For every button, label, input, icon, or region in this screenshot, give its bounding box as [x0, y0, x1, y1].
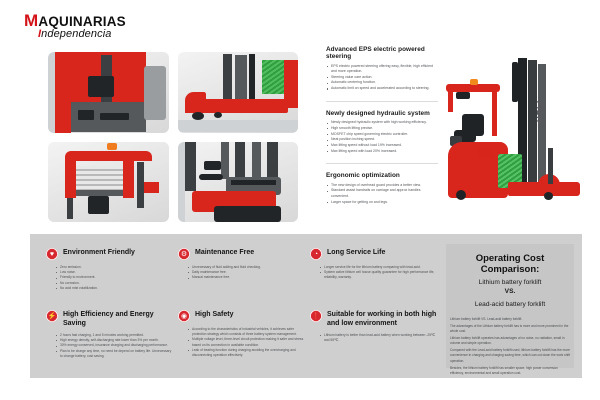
card-bullets: 2 hours fast charging, 1 and 5 minutes w…: [46, 333, 174, 359]
card-bullet: No acid mist volatilization.: [56, 286, 174, 291]
feature-bullets: The new design of overhead guard provide…: [326, 183, 438, 206]
benefit-card-high-low-environment: ❗ Suitable for working in both high and …: [310, 310, 438, 343]
card-title: High Efficiency and Energy Saving: [63, 310, 174, 328]
cost-paragraph: Lithium battery forklift operates has ad…: [450, 336, 570, 347]
cost-paragraph: The advantages of the Lithium battery fo…: [450, 324, 570, 335]
operating-cost-comparison-box: Operating Cost Comparison: Lithium batte…: [446, 244, 574, 368]
leaf-icon: ♥: [46, 248, 58, 260]
card-bullet: Lithium battery is better than lead-acid…: [320, 333, 438, 343]
card-bullet: Plan to be charge any time, no need be d…: [56, 349, 174, 359]
poster-page: MAQUINARIAS Independencia: [0, 0, 600, 400]
product-photo-grid: [48, 52, 298, 222]
card-bullets: Unnecessary of fluid adding and fluid ch…: [178, 265, 306, 281]
card-title: High Safety: [195, 310, 234, 320]
clock-icon: ◔: [310, 248, 322, 260]
card-title: Long Service Life: [327, 248, 385, 258]
benefit-card-long-service-life: ◔ Long Service Life Longer service life …: [310, 248, 438, 281]
feature-block-eps-steering: Advanced EPS electric powered steering E…: [326, 46, 438, 92]
feature-bullet: Max lifting speed with load 20% increase…: [326, 149, 438, 155]
card-bullet: System active lithium cell house quality…: [320, 270, 438, 280]
card-title: Suitable for working in both high and lo…: [327, 310, 438, 328]
card-bullet: According to the characteristics of indu…: [188, 327, 306, 337]
feature-block-ergonomic-optimization: Ergonomic optimization The new design of…: [326, 172, 438, 205]
card-bullets: Lithium battery is better than lead-acid…: [310, 333, 438, 343]
cost-paragraph: Lithium battery forklift VS. Lead-acid b…: [450, 317, 570, 322]
feature-heading: Advanced EPS electric powered steering: [326, 46, 438, 60]
brand-logo: MAQUINARIAS Independencia: [24, 12, 144, 44]
card-bullets: Zero emission. Low noise. Friendly to en…: [46, 265, 174, 291]
feature-bullets: Newly designed hydraulic system with hig…: [326, 120, 438, 154]
cost-title-line2: Comparison:: [454, 264, 566, 275]
feature-heading: Ergonomic optimization: [326, 172, 438, 179]
photo-forks-and-load-backrest: [48, 142, 169, 223]
card-title: Environment Friendly: [63, 248, 135, 258]
feature-bullet: EPS electric powered steering offering e…: [326, 64, 438, 75]
cost-vs-label: VS.: [454, 288, 566, 297]
benefits-panel: ♥ Environment Friendly Zero emission. Lo…: [30, 234, 582, 378]
cost-description: Lithium battery forklift VS. Lead-acid b…: [446, 317, 574, 376]
photo-forklift-mast-side-view: [178, 52, 299, 133]
cost-option-b: Lead-acid battery forklift: [454, 301, 566, 310]
card-bullet: Manual maintenance free.: [188, 275, 306, 280]
divider: [326, 101, 438, 102]
benefit-cards: ♥ Environment Friendly Zero emission. Lo…: [38, 244, 438, 372]
photo-operator-seat-and-controls: [178, 142, 299, 223]
benefit-card-high-efficiency-energy-saving: ⚡ High Efficiency and Energy Saving 2 ho…: [46, 310, 174, 359]
gear-icon: ⚙: [178, 248, 190, 260]
benefit-card-maintenance-free: ⚙ Maintenance Free Unnecessary of fluid …: [178, 248, 306, 281]
brand-name: MAQUINARIAS: [24, 12, 144, 29]
feature-block-hydraulic-system: Newly designed hydraulic system Newly de…: [326, 110, 438, 154]
brand-initial: M: [24, 11, 38, 30]
card-title: Maintenance Free: [195, 248, 254, 258]
card-bullets: According to the characteristics of indu…: [178, 327, 306, 358]
card-bullet: Multiple voltage level, three-level circ…: [188, 337, 306, 347]
brand-sub-text: ndependencia: [41, 28, 111, 40]
feature-bullet: Larger space for getting on and legs.: [326, 200, 438, 206]
benefit-card-environment-friendly: ♥ Environment Friendly Zero emission. Lo…: [46, 248, 174, 291]
cost-title-line1: Operating Cost: [454, 253, 566, 264]
cost-paragraph: Compared with the Lead-acid battery fork…: [450, 348, 570, 364]
benefit-card-high-safety: ◉ High Safety According to the character…: [178, 310, 306, 358]
brand-name-text: AQUINARIAS: [38, 14, 126, 29]
hero-forklift-image: HELI: [432, 58, 592, 233]
feature-bullet: Standard assist handrails on carriage an…: [326, 188, 438, 199]
card-bullet: Leak of beating function during charging…: [188, 348, 306, 358]
cost-paragraph: Besides, the lithium battery forklift ha…: [450, 366, 570, 377]
battery-bolt-icon: ⚡: [46, 310, 58, 322]
top-feature-list: Advanced EPS electric powered steering E…: [326, 46, 438, 214]
card-bullets: Longer service life for the lithium batt…: [310, 265, 438, 281]
feature-heading: Newly designed hydraulic system: [326, 110, 438, 117]
product-brand-mark: HELI: [536, 100, 545, 122]
divider: [326, 163, 438, 164]
cost-option-a: Lithium battery forklift: [454, 279, 566, 288]
brand-subname: Independencia: [38, 28, 144, 40]
feature-bullets: EPS electric powered steering offering e…: [326, 64, 438, 92]
thermometer-icon: ❗: [310, 310, 322, 322]
photo-operator-cabin-floor-pedals: [48, 52, 169, 133]
feature-bullet: Automatic limit on speed and accelerated…: [326, 86, 438, 92]
shield-icon: ◉: [178, 310, 190, 322]
